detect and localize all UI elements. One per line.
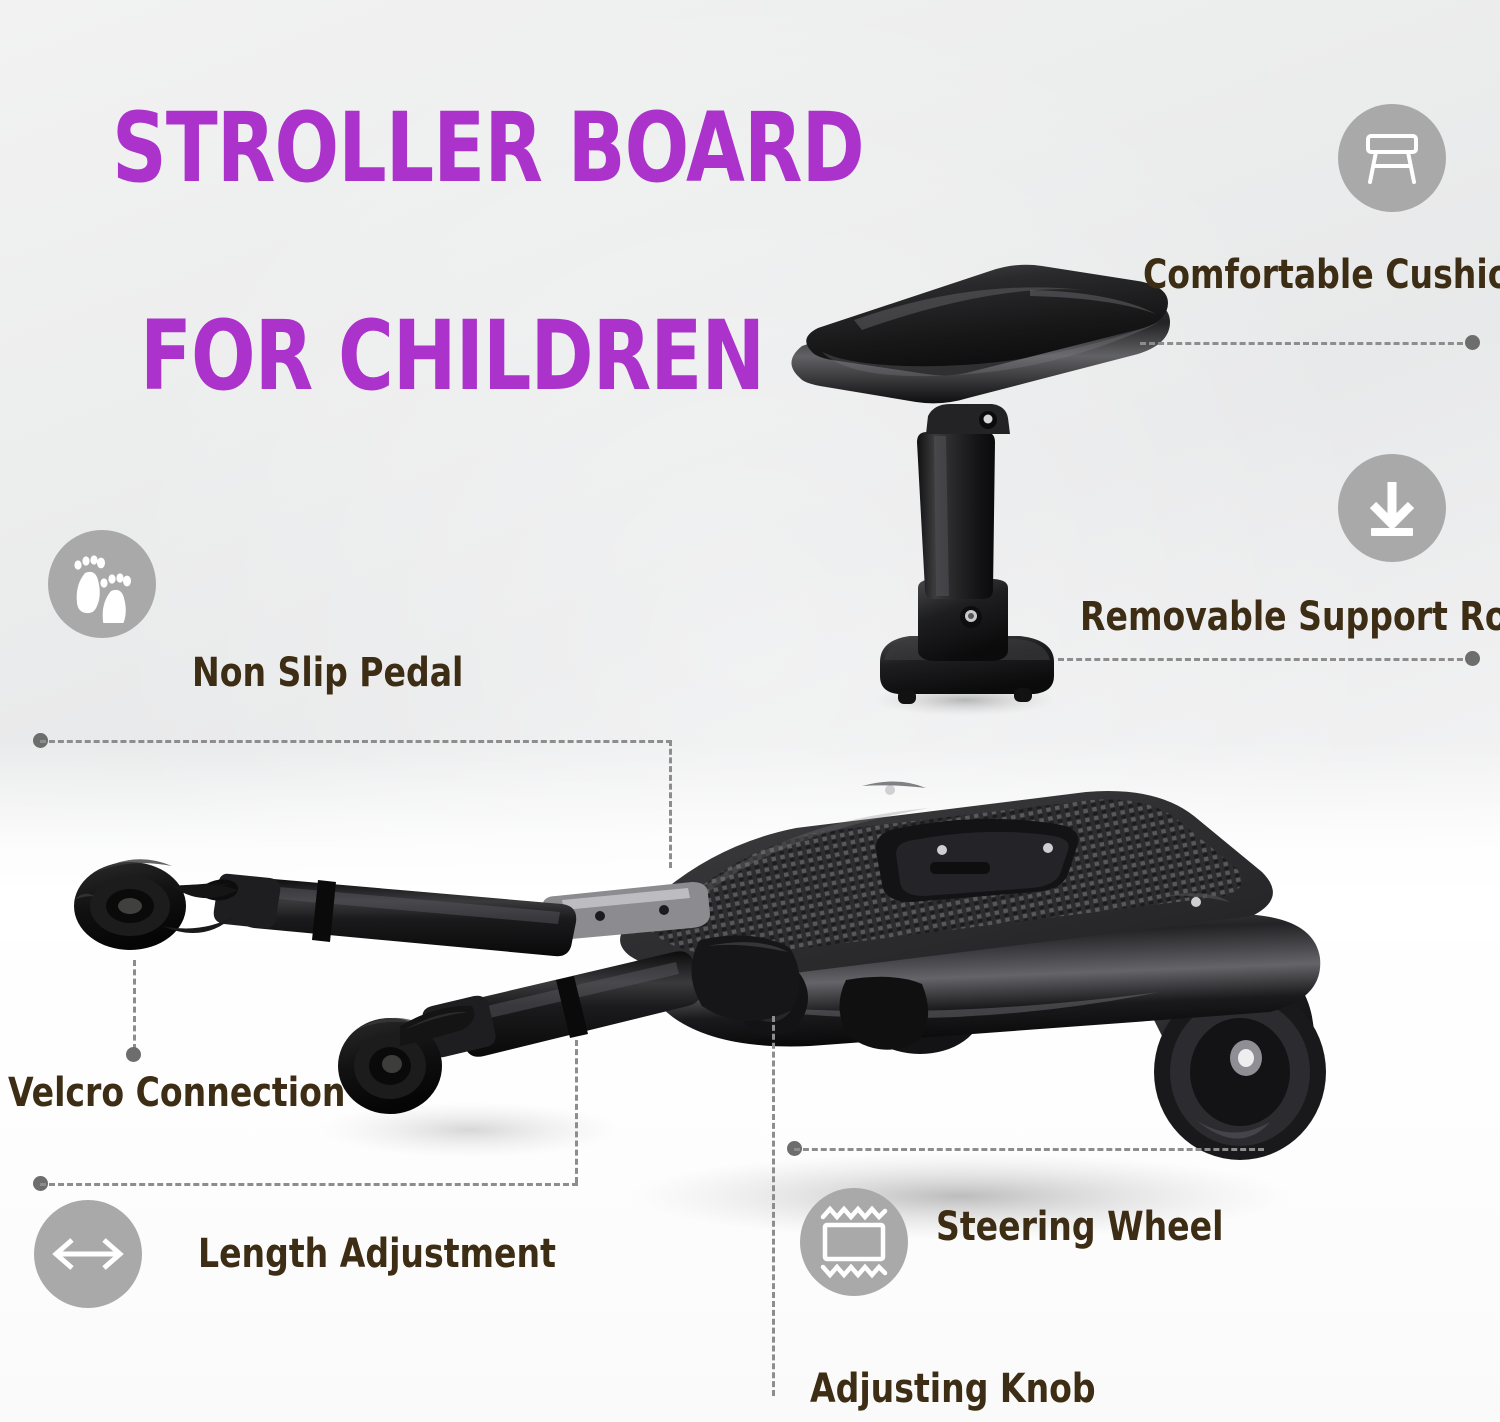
stool-icon (1338, 104, 1446, 212)
download-arrow-icon (1338, 454, 1446, 562)
feature-label-steering-wheel: Steering Wheel (936, 1207, 1223, 1247)
leader-line-length-adjustment-vertical (575, 1040, 578, 1183)
feature-label-velcro-connection: Velcro Connection (8, 1073, 345, 1113)
wavy-rectangle-icon (800, 1188, 908, 1296)
footprints-icon (48, 530, 156, 638)
leader-dot-removable-support-rod (1465, 651, 1480, 666)
feature-label-length-adjustment: Length Adjustment (198, 1234, 556, 1274)
feature-label-comfortable-cushion: Comfortable Cushion (1143, 255, 1500, 295)
feature-label-non-slip-pedal: Non Slip Pedal (192, 653, 463, 693)
leader-line-velcro-connection (133, 960, 136, 1050)
leader-line-removable-support-rod (1058, 658, 1472, 661)
infographic-page: STROLLER BOARD FOR CHILDREN (0, 0, 1500, 1422)
leader-line-comfortable-cushion (1140, 342, 1472, 345)
leader-line-adjusting-knob (772, 1016, 775, 1396)
leader-line-non-slip-pedal-horizontal (40, 740, 672, 743)
feature-label-removable-support-rod: Removable Support Rod (1080, 597, 1500, 637)
product-illustration (0, 0, 1500, 1422)
double-arrow-icon (34, 1200, 142, 1308)
leader-line-length-adjustment-horizontal (40, 1183, 578, 1186)
leader-dot-comfortable-cushion (1465, 335, 1480, 350)
leader-line-non-slip-pedal-vertical (669, 740, 672, 868)
feature-label-adjusting-knob: Adjusting Knob (810, 1369, 1096, 1409)
leader-line-steering-wheel (794, 1148, 1264, 1151)
leader-dot-velcro-connection (126, 1047, 141, 1062)
seat-assembly (791, 265, 1170, 716)
